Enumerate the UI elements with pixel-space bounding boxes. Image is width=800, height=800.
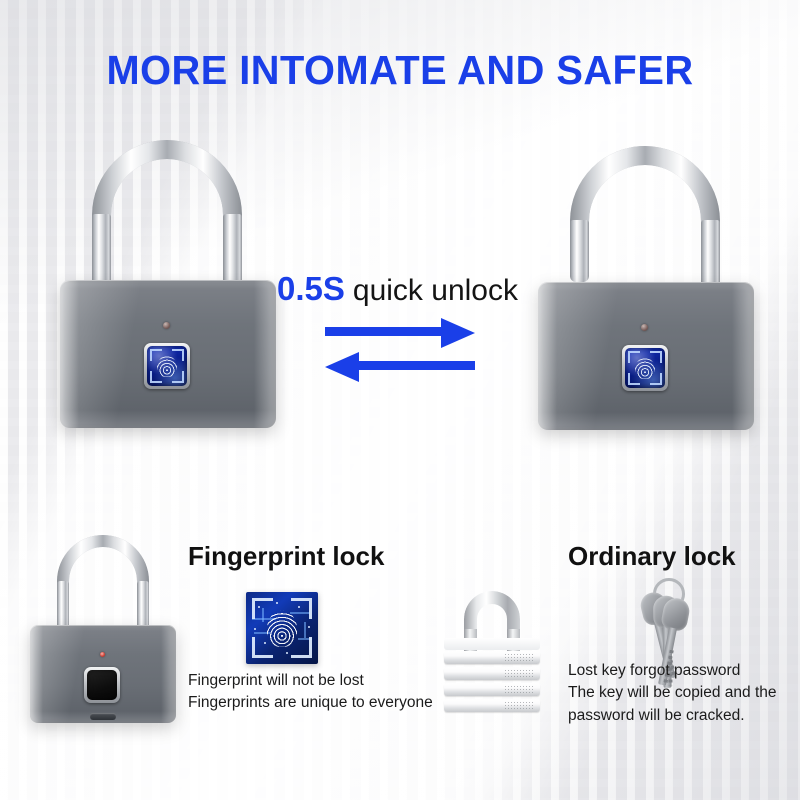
fingerprint-padlock-unlocked: [530, 140, 760, 430]
fingerprint-section-description: Fingerprint will not be lost Fingerprint…: [188, 670, 433, 715]
ordinary-line-1: Lost key forgot password: [568, 660, 777, 682]
usb-port: [90, 713, 116, 720]
shackle-leg-right: [701, 220, 720, 288]
unlock-time-value: 0.5S: [277, 270, 345, 307]
status-led: [641, 324, 648, 331]
shackle-leg-right: [223, 214, 242, 286]
fingerprint-line-2: Fingerprints are unique to everyone: [188, 692, 433, 714]
fingerprint-section-heading: Fingerprint lock: [188, 541, 384, 572]
quick-unlock-caption: 0.5Squick unlock: [277, 270, 518, 308]
unlock-time-label: quick unlock: [345, 274, 518, 307]
page-title: MORE INTOMATE AND SAFER: [12, 47, 788, 94]
shackle-leg-left: [57, 581, 69, 629]
ordinary-line-3: password will be cracked.: [568, 705, 777, 727]
arrow-right-icon: [325, 318, 475, 340]
fingerprint-sensor[interactable]: [622, 345, 668, 391]
fingerprint-sensor[interactable]: [84, 667, 120, 703]
lock-body: [30, 625, 176, 723]
shackle-leg-left-open: [570, 220, 589, 282]
fingerprint-sensor[interactable]: [144, 343, 190, 389]
status-led: [163, 322, 170, 329]
ordinary-padlock-graphic: [438, 591, 546, 709]
ordinary-line-2: The key will be copied and the: [568, 682, 777, 704]
shackle: [57, 535, 149, 589]
shackle-leg-right: [137, 581, 149, 629]
fingerprint-line-1: Fingerprint will not be lost: [188, 670, 433, 692]
shackle-unlocked: [570, 146, 720, 232]
fingerprint-padlock-locked: [60, 140, 280, 430]
fingerprint-scan-graphic: [246, 592, 318, 664]
ordinary-section-description: Lost key forgot password The key will be…: [568, 660, 777, 727]
status-led: [100, 652, 105, 657]
fingerprint-padlock-small: [30, 535, 180, 735]
shackle-locked: [92, 140, 242, 226]
lock-body: [538, 282, 754, 430]
arrow-left-icon: [325, 352, 475, 374]
shackle-leg-left: [92, 214, 111, 286]
ordinary-section-heading: Ordinary lock: [568, 541, 736, 572]
lock-body: [60, 280, 276, 428]
product-infographic: MORE INTOMATE AND SAFER: [0, 0, 800, 800]
